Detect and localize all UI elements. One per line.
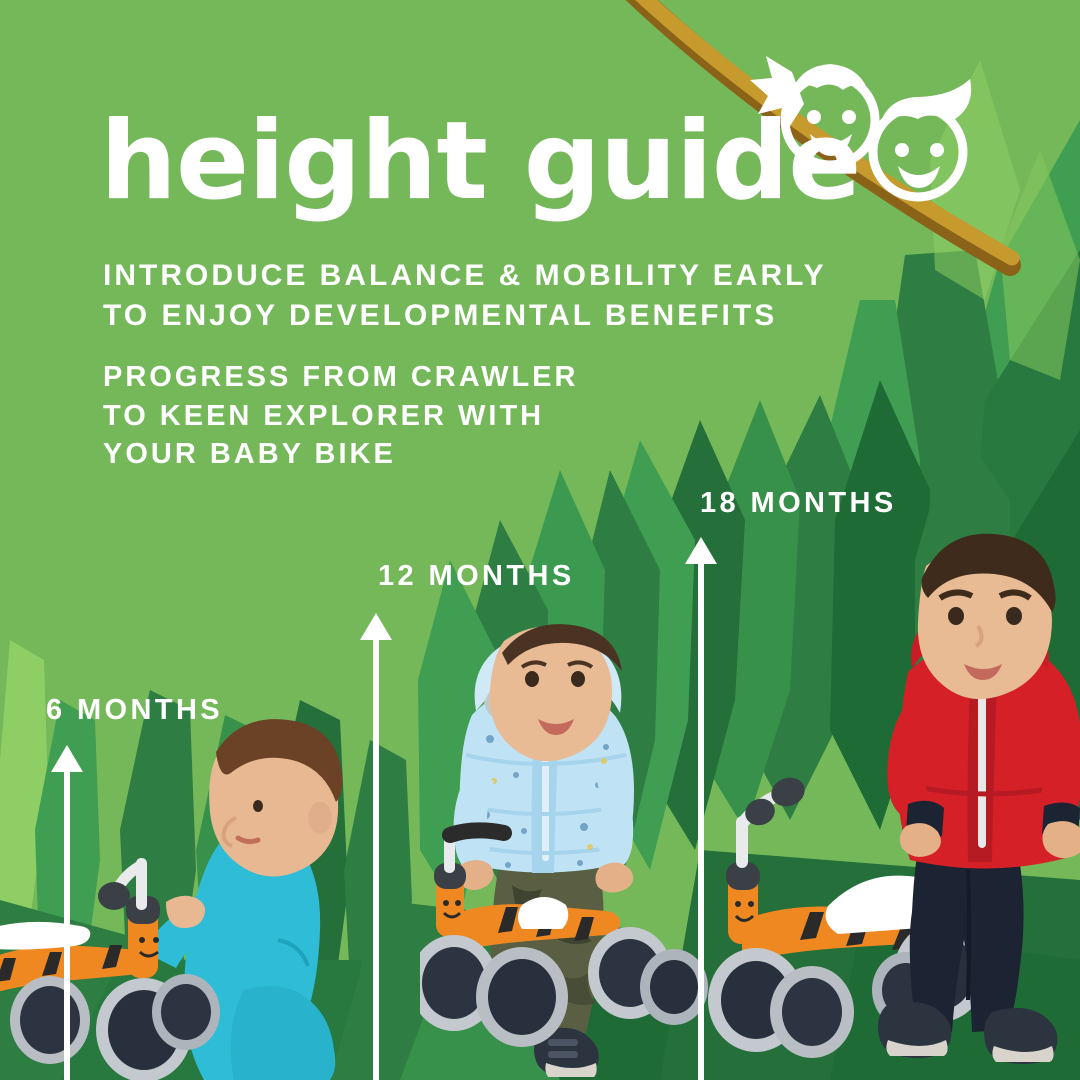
body-text: PROGRESS FROM CRAWLER TO KEEN EXPLORER W… xyxy=(103,358,578,474)
subtitle-text: INTRODUCE BALANCE & MOBILITY EARLY TO EN… xyxy=(103,256,827,335)
page-title: height guide xyxy=(100,108,860,216)
up-arrow-icon-18-months xyxy=(684,537,718,1080)
arrow-head xyxy=(360,613,392,640)
arrow-head xyxy=(51,745,83,772)
baby-boy-face-icon xyxy=(873,79,971,197)
milestone-label-6-months: 6 MONTHS xyxy=(46,694,223,727)
photo-18-months xyxy=(700,520,1080,1080)
milestone-label-12-months: 12 MONTHS xyxy=(378,560,575,593)
photo-12-months xyxy=(420,615,710,1080)
arrow-head xyxy=(685,537,717,564)
milestone-label-18-months: 18 MONTHS xyxy=(700,487,897,520)
arrow-shaft xyxy=(64,769,70,1080)
arrow-shaft xyxy=(373,637,379,1080)
up-arrow-icon-6-months xyxy=(50,745,84,1080)
bike-wheels xyxy=(10,974,220,1080)
height-guide-poster: height guide INTRODUCE BALANCE & MOBILIT… xyxy=(0,0,1080,1080)
arrow-shaft xyxy=(698,561,704,1080)
baby-head xyxy=(209,719,342,876)
up-arrow-icon-12-months xyxy=(359,613,393,1080)
